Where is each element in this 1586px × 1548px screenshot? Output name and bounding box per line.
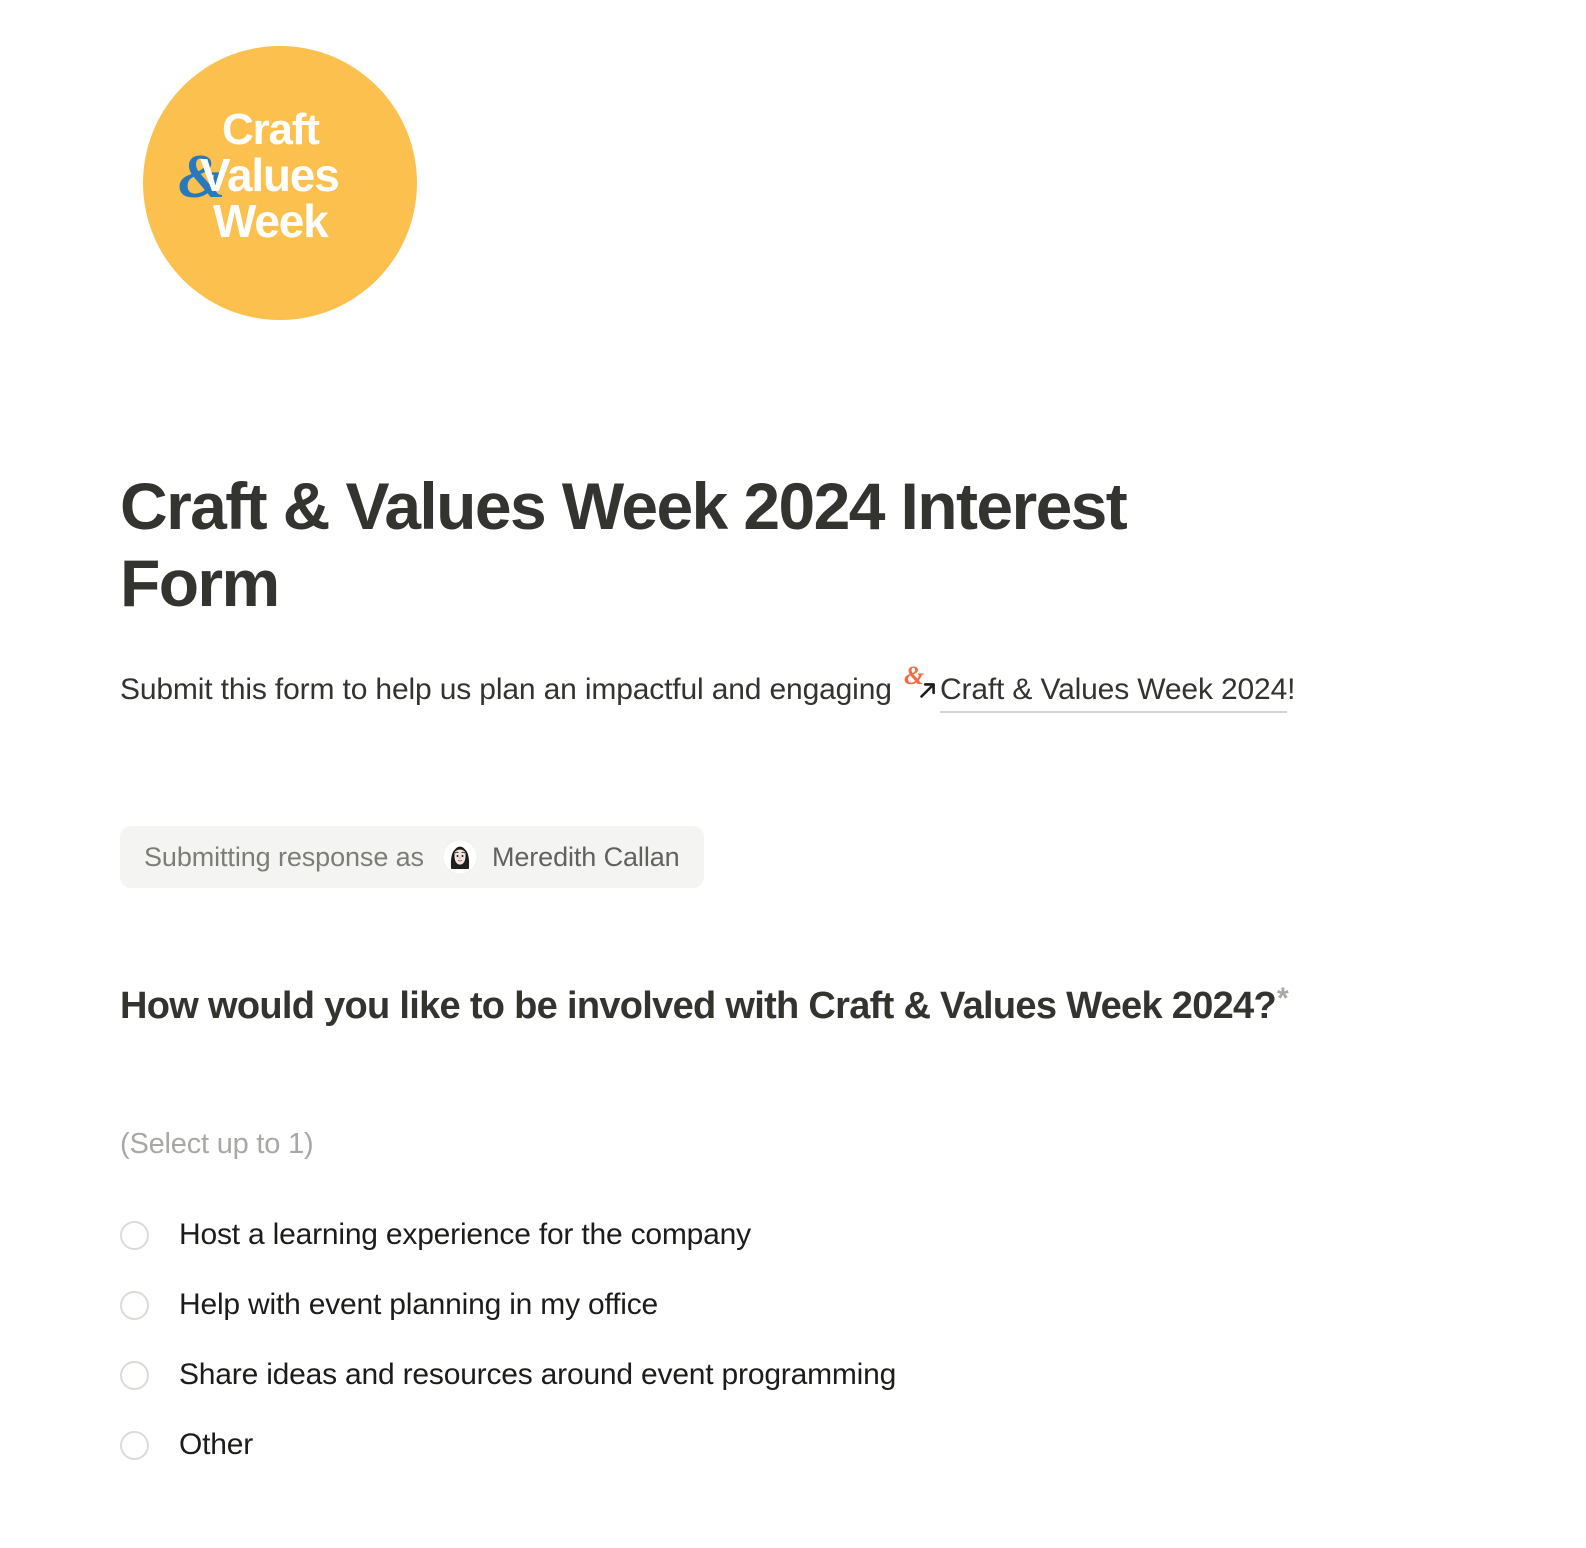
question-title: How would you like to be involved with C… bbox=[120, 978, 1450, 1033]
radio-option[interactable]: Other bbox=[120, 1422, 1320, 1468]
logo-circle: & Craft Values Week bbox=[143, 46, 417, 320]
required-asterisk: * bbox=[1277, 982, 1288, 1015]
submitting-response-as-user: Meredith Callan bbox=[492, 842, 680, 873]
submitting-response-as-pill: Submitting response as Meredith Callan bbox=[120, 826, 704, 888]
form-page: & Craft Values Week Craft & Values Week … bbox=[0, 0, 1586, 1548]
airtable-ampersand-external-link-icon: & bbox=[904, 675, 938, 703]
radio-circle-icon[interactable] bbox=[120, 1291, 149, 1320]
radio-circle-icon[interactable] bbox=[120, 1221, 149, 1250]
logo-wordmark: & Craft Values Week bbox=[143, 46, 417, 320]
logo-line-week: Week bbox=[213, 198, 328, 244]
radio-option-label: Other bbox=[179, 1428, 253, 1462]
radio-option-label: Share ideas and resources around event p… bbox=[179, 1358, 896, 1392]
form-description: Submit this form to help us plan an impa… bbox=[120, 664, 1370, 716]
radio-option-label: Host a learning experience for the compa… bbox=[179, 1218, 751, 1252]
radio-option[interactable]: Host a learning experience for the compa… bbox=[120, 1212, 1320, 1258]
submitting-response-as-label: Submitting response as bbox=[144, 842, 424, 873]
craft-values-week-link[interactable]: Craft & Values Week 2024 bbox=[940, 673, 1287, 713]
form-title: Craft & Values Week 2024 Interest Form bbox=[120, 468, 1240, 621]
form-logo: & Craft Values Week bbox=[143, 46, 417, 320]
radio-circle-icon[interactable] bbox=[120, 1361, 149, 1390]
logo-line-craft: Craft bbox=[222, 108, 319, 152]
radio-option[interactable]: Share ideas and resources around event p… bbox=[120, 1352, 1320, 1398]
question-text: How would you like to be involved with C… bbox=[120, 985, 1276, 1027]
form-description-text: Submit this form to help us plan an impa… bbox=[120, 673, 900, 706]
user-avatar bbox=[442, 839, 478, 875]
form-description-link-chip[interactable]: &Craft & Values Week 2024 bbox=[900, 673, 1287, 706]
logo-line-values: Values bbox=[200, 152, 339, 198]
radio-option-label: Help with event planning in my office bbox=[179, 1288, 658, 1322]
radio-option[interactable]: Help with event planning in my office bbox=[120, 1282, 1320, 1328]
radio-circle-icon[interactable] bbox=[120, 1431, 149, 1460]
radio-option-group: Host a learning experience for the compa… bbox=[120, 1212, 1320, 1492]
form-description-suffix: ! bbox=[1287, 673, 1295, 706]
question-hint: (Select up to 1) bbox=[120, 1128, 313, 1161]
